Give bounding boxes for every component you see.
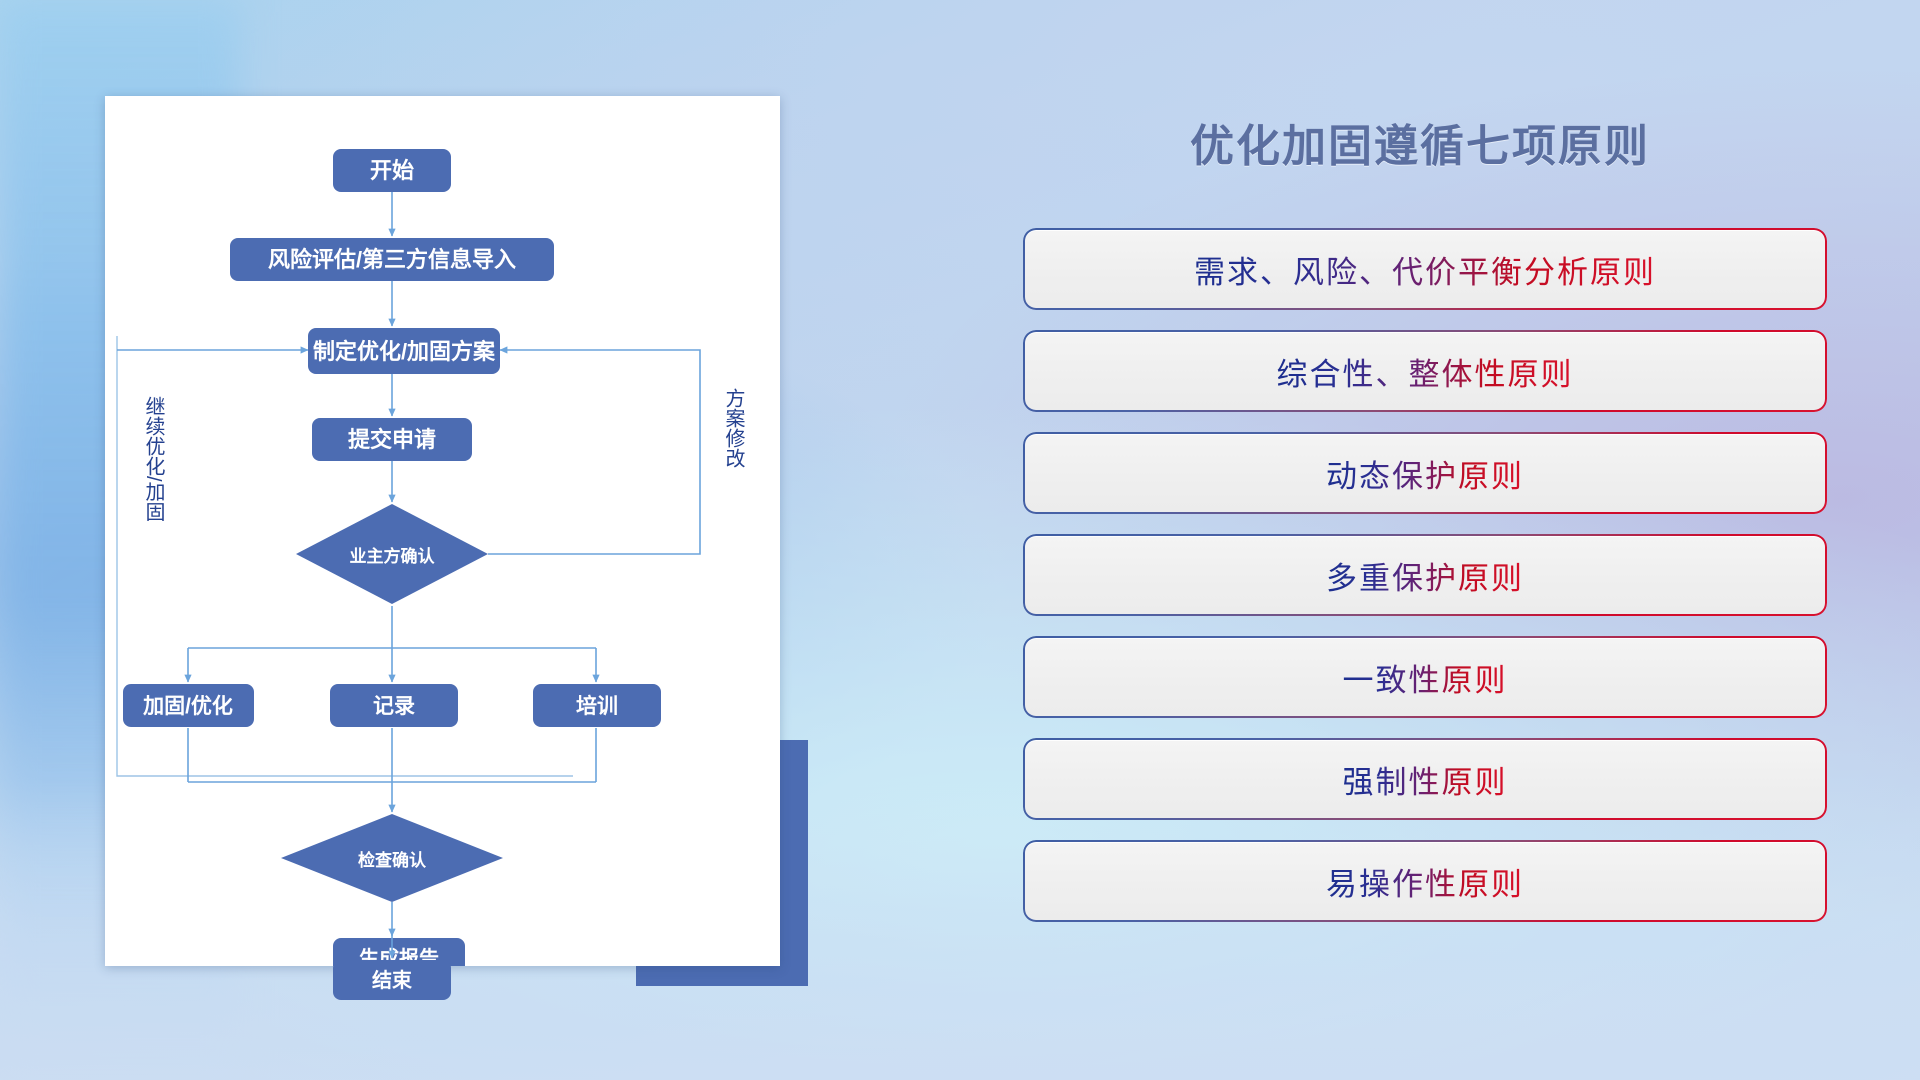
principle-card-1[interactable]: 需求、风险、代价平衡分析原则 [1025,230,1825,308]
principle-card-3[interactable]: 动态保护原则 [1025,434,1825,512]
flowchart: 开始 风险评估/第三方信息导入 制定优化/加固方案 提交申请 业主方确认 [105,96,780,966]
principle-card-2[interactable]: 综合性、整体性原则 [1025,332,1825,410]
flow-node-start[interactable]: 开始 [333,149,451,192]
flow-node-start-label: 开始 [370,158,414,183]
flowchart-sheet: 开始 风险评估/第三方信息导入 制定优化/加固方案 提交申请 业主方确认 [105,96,780,966]
principle-label: 强制性原则 [1343,757,1508,802]
flow-node-reinforce-label: 加固/优化 [142,694,233,718]
left-panel: 开始 风险评估/第三方信息导入 制定优化/加固方案 提交申请 业主方确认 [0,0,880,1080]
flow-node-owner-confirm[interactable]: 业主方确认 [296,504,488,604]
principle-label: 多重保护原则 [1326,553,1524,598]
flow-node-training-label: 培训 [576,694,618,718]
principle-label: 一致性原则 [1343,655,1508,700]
principle-label: 需求、风险、代价平衡分析原则 [1194,247,1656,292]
flow-node-submit-label: 提交申请 [348,427,436,452]
flow-node-submit[interactable]: 提交申请 [312,418,472,461]
flow-node-end[interactable]: 结束 [333,960,451,1000]
connector-owner-revise-to-plan [488,350,700,554]
flow-node-check[interactable]: 检查确认 [281,814,503,902]
principle-card-6[interactable]: 强制性原则 [1025,740,1825,818]
flow-node-owner-confirm-label: 业主方确认 [350,546,436,566]
right-panel: 优化加固遵循七项原则 需求、风险、代价平衡分析原则 综合性、整体性原则 动态保护… [1010,0,1920,1080]
flow-node-plan[interactable]: 制定优化/加固方案 [308,328,500,374]
flow-node-plan-label: 制定优化/加固方案 [313,339,496,364]
flow-node-training[interactable]: 培训 [533,684,661,727]
principle-label: 易操作性原则 [1326,859,1524,904]
principle-card-7[interactable]: 易操作性原则 [1025,842,1825,920]
flow-node-record[interactable]: 记录 [330,684,458,727]
flow-node-end-label: 结束 [372,968,413,992]
principles-list: 需求、风险、代价平衡分析原则 综合性、整体性原则 动态保护原则 多重保护原则 一… [1025,230,1825,944]
page-title: 优化加固遵循七项原则 [1010,110,1830,174]
principle-label: 综合性、整体性原则 [1277,349,1574,394]
principle-card-5[interactable]: 一致性原则 [1025,638,1825,716]
flow-node-risk[interactable]: 风险评估/第三方信息导入 [230,238,554,281]
flow-node-check-label: 检查确认 [358,850,427,870]
flow-node-reinforce[interactable]: 加固/优化 [123,684,254,727]
principle-card-4[interactable]: 多重保护原则 [1025,536,1825,614]
flow-edge-label-loop-right: 方案修改 [722,388,745,468]
flow-node-risk-label: 风险评估/第三方信息导入 [268,247,516,272]
flow-edge-label-loop-left: 继续优化/加固 [142,396,165,522]
principle-label: 动态保护原则 [1326,451,1524,496]
flowchart-tail: 结束 [105,930,780,1050]
flow-node-record-label: 记录 [373,695,415,718]
